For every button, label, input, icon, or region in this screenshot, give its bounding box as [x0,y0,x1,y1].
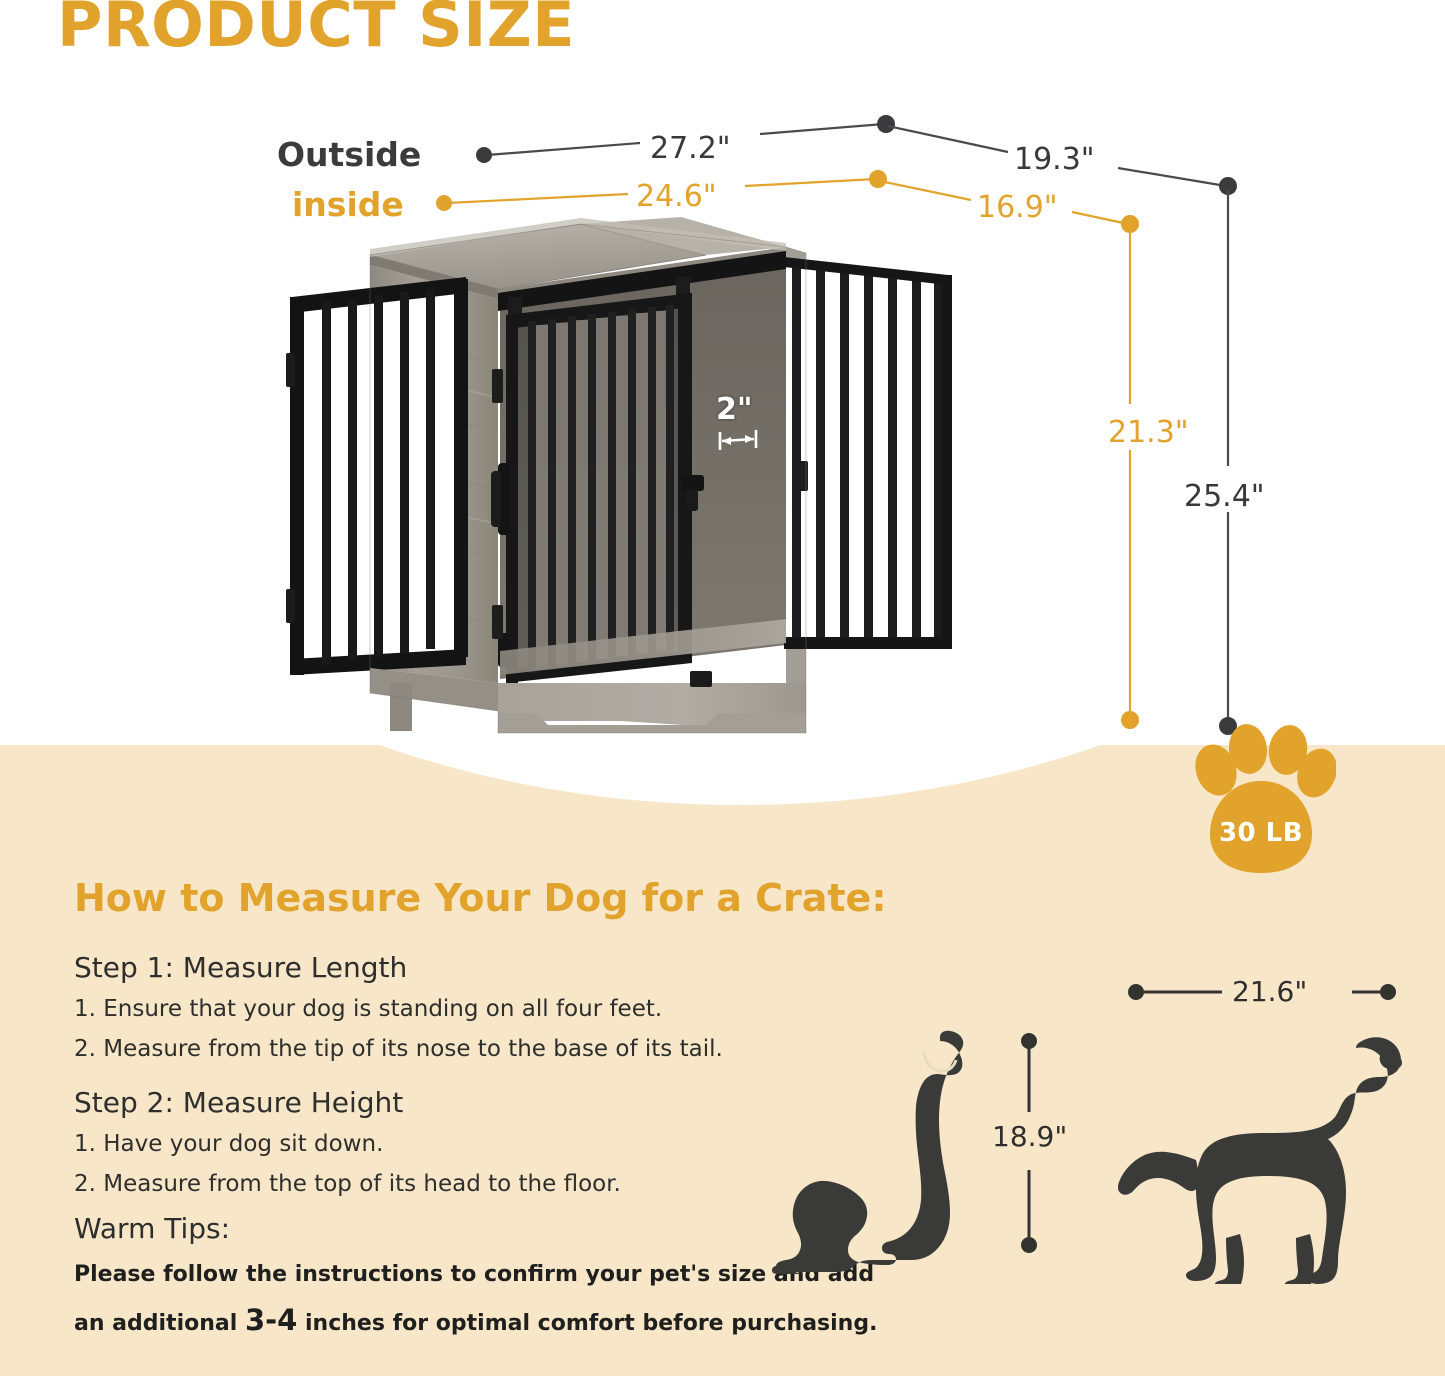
standing-dog-silhouette [1110,1020,1410,1285]
dimension-inside-height: 21.3" [1108,415,1189,450]
legend-outside-label: Outside [277,135,421,174]
step2-line-2: 2. Measure from the top of its head to t… [74,1171,621,1197]
dog-standing-icon [1110,1020,1410,1285]
dimension-outside-depth: 19.3" [1014,142,1095,177]
weight-badge-label: 30 LB [1186,818,1336,848]
step1-line-1: 1. Ensure that your dog is standing on a… [74,996,662,1022]
legend-inside-label: inside [292,185,404,224]
dimension-inside-depth: 16.9" [977,190,1058,225]
dog-crate-illustration [286,213,1086,753]
dog-sitting-icon [772,1018,972,1283]
warm-tips-heading: Warm Tips: [74,1212,230,1245]
page-title: PRODUCT SIZE [57,0,575,61]
dog-length-dimension: 21.6" [1232,975,1307,1008]
step1-line-2: 2. Measure from the tip of its nose to t… [74,1036,723,1062]
warm-tips-line2-after: inches for optimal comfort before purcha… [297,1311,877,1336]
warm-tips-highlight: 3-4 [245,1303,297,1337]
step1-heading: Step 1: Measure Length [74,951,407,984]
warm-tips-line-1: Please follow the instructions to confir… [74,1262,874,1287]
product-size-infographic: PRODUCT SIZE Outside inside [0,0,1445,1376]
step2-heading: Step 2: Measure Height [74,1086,403,1119]
dimension-outside-height: 25.4" [1184,479,1265,514]
howto-title: How to Measure Your Dog for a Crate: [74,876,887,920]
crate-svg [286,213,1086,753]
bar-spacing-label: 2" [716,392,753,427]
warm-tips-line-2: an additional 3-4 inches for optimal com… [74,1303,877,1337]
bar-spacing-arrow-icon [716,428,766,454]
paw-icon [1186,723,1336,875]
dimension-inside-width: 24.6" [636,179,717,214]
sitting-dog-silhouette [772,1018,972,1283]
dimension-outside-width: 27.2" [650,131,731,166]
dog-height-dimension: 18.9" [992,1120,1067,1153]
step2-line-1: 1. Have your dog sit down. [74,1131,383,1157]
warm-tips-line2-before: an additional [74,1311,245,1336]
weight-badge: 30 LB [1186,723,1336,875]
